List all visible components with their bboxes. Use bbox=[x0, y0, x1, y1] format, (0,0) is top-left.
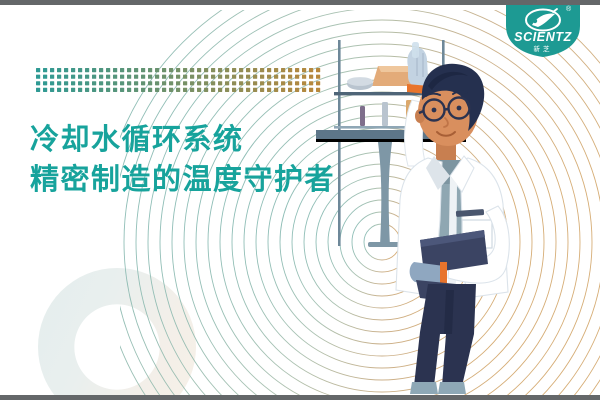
headline-line-2: 精密制造的温度守护者 bbox=[30, 162, 335, 196]
banner-root: 冷却水循环系统 精密制造的温度守护者 bbox=[0, 0, 600, 400]
logo-cn-name: 新芝 bbox=[534, 44, 553, 53]
bottom-chrome-bar bbox=[0, 395, 600, 400]
scientz-logo[interactable]: ® SCIENTZ 新芝 bbox=[504, 0, 582, 58]
page-title: 冷却水循环系统 精密制造的温度守护者 bbox=[30, 122, 335, 196]
logo-wordmark: SCIENTZ bbox=[514, 30, 572, 44]
headline-line-1: 冷却水循环系统 bbox=[30, 122, 335, 156]
shoes bbox=[410, 382, 466, 394]
logo-registered-mark: ® bbox=[566, 5, 572, 13]
trousers bbox=[414, 284, 476, 386]
dot-gradient-band bbox=[36, 68, 322, 94]
top-chrome-bar bbox=[0, 0, 600, 5]
scientist-illustration bbox=[316, 34, 600, 396]
